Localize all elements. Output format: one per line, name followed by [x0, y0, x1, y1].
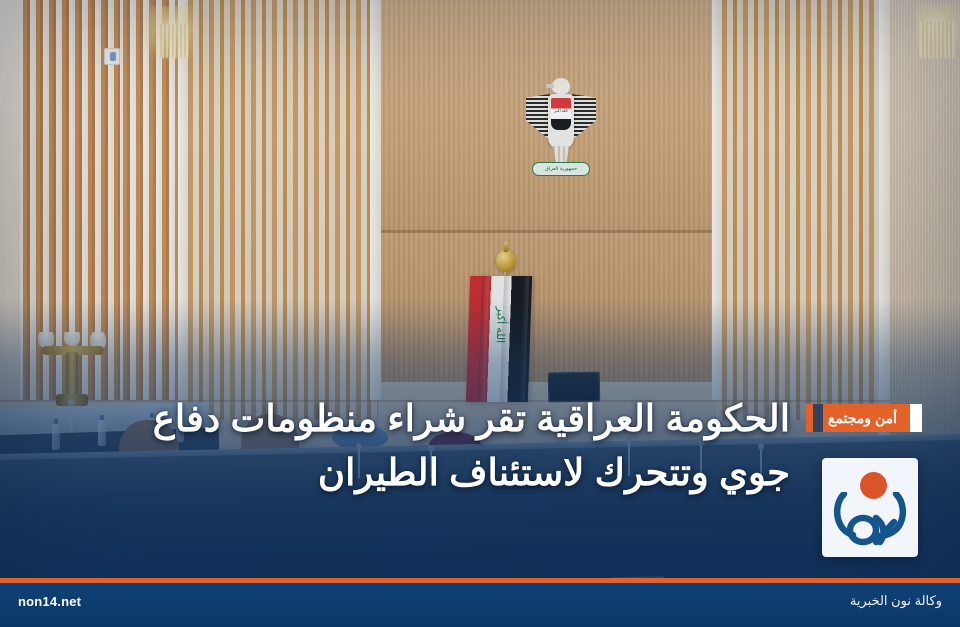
agency-logo[interactable] [822, 458, 918, 557]
category-badge-notch [813, 404, 823, 432]
category-badge-label: أمن ومجتمع [828, 404, 908, 432]
footer-agency-name: وكالة نون الخبرية [850, 593, 942, 609]
footer-accent-rule [0, 578, 960, 583]
footer-bar: non14.net وكالة نون الخبرية [0, 578, 960, 627]
footer-site-url[interactable]: non14.net [18, 594, 81, 609]
headline: الحكومة العراقية تقر شراء منظومات دفاع ج… [70, 392, 790, 499]
news-card: الله أكبر جمهورية العراق الله أكبر [0, 0, 960, 627]
headline-line-1: الحكومة العراقية تقر شراء منظومات دفاع [153, 398, 790, 439]
category-badge[interactable]: أمن ومجتمع [806, 404, 922, 432]
category-badge-accent-bar [910, 404, 922, 432]
headline-line-2: جوي وتتحرك لاستئناف الطيران [70, 446, 790, 500]
logo-noon-glyph-icon [832, 492, 908, 546]
